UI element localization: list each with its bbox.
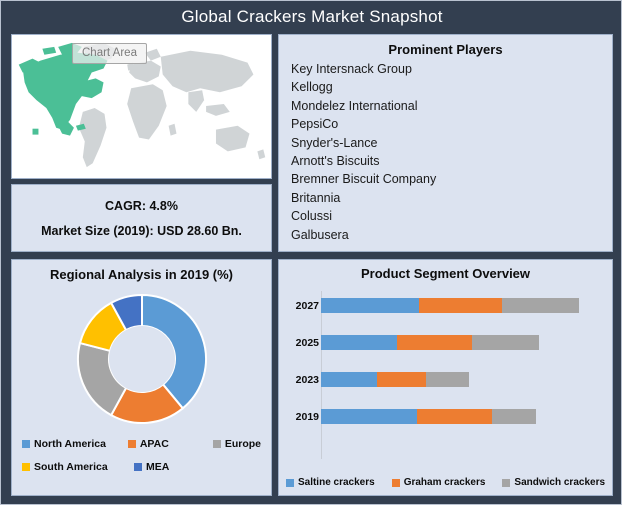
bar-row: 2025 xyxy=(321,324,600,361)
bar-segment-saltine-crackers[interactable] xyxy=(321,298,419,313)
legend-swatch-icon xyxy=(392,479,400,487)
legend-item-north-america[interactable]: North America xyxy=(22,438,128,450)
key-stats-panel: CAGR: 4.8% Market Size (2019): USD 28.60… xyxy=(11,184,272,252)
market-size-value: Market Size (2019): USD 28.60 Bn. xyxy=(41,224,242,238)
regional-analysis-donut-chart[interactable] xyxy=(67,284,217,434)
legend-swatch-icon xyxy=(502,479,510,487)
regional-analysis-title: Regional Analysis in 2019 (%) xyxy=(50,267,233,282)
legend-swatch-icon xyxy=(22,463,30,471)
list-item: Colussi xyxy=(291,207,612,225)
bar-category-label: 2027 xyxy=(287,300,319,312)
legend-label: Saltine crackers xyxy=(298,477,375,488)
bar-segment-saltine-crackers[interactable] xyxy=(321,335,397,350)
infographic-canvas: Global Crackers Market Snapshot xyxy=(0,0,622,505)
bar-category-label: 2023 xyxy=(287,374,319,386)
legend-item-graham-crackers[interactable]: Graham crackers xyxy=(392,477,486,488)
legend-swatch-icon xyxy=(128,440,136,448)
legend-item-mea[interactable]: MEA xyxy=(134,461,169,473)
product-segment-legend: Saltine crackers Graham crackers Sandwic… xyxy=(279,477,612,495)
legend-label: Sandwich crackers xyxy=(514,477,605,488)
bar-row: 2027 xyxy=(321,287,600,324)
page-title: Global Crackers Market Snapshot xyxy=(181,7,442,27)
bar-segment-graham-crackers[interactable] xyxy=(397,335,472,350)
bar-category-label: 2025 xyxy=(287,337,319,349)
list-item: Snyder's-Lance xyxy=(291,134,612,152)
legend-swatch-icon xyxy=(134,463,142,471)
list-item: Mondelez International xyxy=(291,97,612,115)
world-map[interactable]: Chart Area xyxy=(12,35,271,178)
list-item: Britannia xyxy=(291,189,612,207)
bar-segment-saltine-crackers[interactable] xyxy=(321,372,377,387)
legend-label: APAC xyxy=(140,438,169,450)
legend-swatch-icon xyxy=(286,479,294,487)
list-item: Bremner Biscuit Company xyxy=(291,170,612,188)
list-item: Kellogg xyxy=(291,78,612,96)
legend-label: South America xyxy=(34,461,108,473)
world-map-panel: Chart Area xyxy=(11,34,272,179)
list-item: Key Intersnack Group xyxy=(291,60,612,78)
donut-hole xyxy=(109,326,175,392)
legend-item-apac[interactable]: APAC xyxy=(128,438,213,450)
regional-analysis-panel: Regional Analysis in 2019 (%) North Amer… xyxy=(11,259,272,496)
bar-segment-graham-crackers[interactable] xyxy=(417,409,492,424)
legend-item-saltine-crackers[interactable]: Saltine crackers xyxy=(286,477,375,488)
legend-swatch-icon xyxy=(22,440,30,448)
bar-segment-graham-crackers[interactable] xyxy=(419,298,503,313)
bar-row: 2023 xyxy=(321,361,600,398)
legend-item-south-america[interactable]: South America xyxy=(22,461,134,473)
bar-segment-sandwich-crackers[interactable] xyxy=(426,372,469,387)
cagr-value: CAGR: 4.8% xyxy=(105,199,178,213)
bar-track xyxy=(321,298,600,313)
list-item: Galbusera xyxy=(291,226,612,244)
bar-segment-sandwich-crackers[interactable] xyxy=(502,298,578,313)
bar-segment-sandwich-crackers[interactable] xyxy=(472,335,539,350)
prominent-players-list: Key Intersnack Group Kellogg Mondelez In… xyxy=(279,60,612,244)
header-bar: Global Crackers Market Snapshot xyxy=(1,1,622,33)
list-item: PepsiCo xyxy=(291,115,612,133)
bar-segment-graham-crackers[interactable] xyxy=(377,372,426,387)
legend-label: MEA xyxy=(146,461,169,473)
legend-label: North America xyxy=(34,438,106,450)
bar-track xyxy=(321,335,600,350)
prominent-players-title: Prominent Players xyxy=(279,42,612,57)
bar-track xyxy=(321,372,600,387)
product-segment-title: Product Segment Overview xyxy=(279,266,612,281)
bar-track xyxy=(321,409,600,424)
bar-segment-saltine-crackers[interactable] xyxy=(321,409,417,424)
regional-analysis-legend: North America APAC Europe South America xyxy=(12,438,271,484)
legend-label: Graham crackers xyxy=(404,477,486,488)
legend-item-sandwich-crackers[interactable]: Sandwich crackers xyxy=(502,477,605,488)
bar-segment-sandwich-crackers[interactable] xyxy=(492,409,536,424)
prominent-players-panel: Prominent Players Key Intersnack Group K… xyxy=(278,34,613,252)
list-item: Arnott's Biscuits xyxy=(291,152,612,170)
bar-row: 2019 xyxy=(321,398,600,435)
product-segment-bar-chart[interactable]: 2027202520232019 xyxy=(287,287,600,477)
bar-category-label: 2019 xyxy=(287,411,319,423)
chart-area-tooltip: Chart Area xyxy=(72,43,147,64)
legend-item-europe[interactable]: Europe xyxy=(213,438,261,450)
product-segment-panel: Product Segment Overview 202720252023201… xyxy=(278,259,613,496)
legend-label: Europe xyxy=(225,438,261,450)
legend-swatch-icon xyxy=(213,440,221,448)
